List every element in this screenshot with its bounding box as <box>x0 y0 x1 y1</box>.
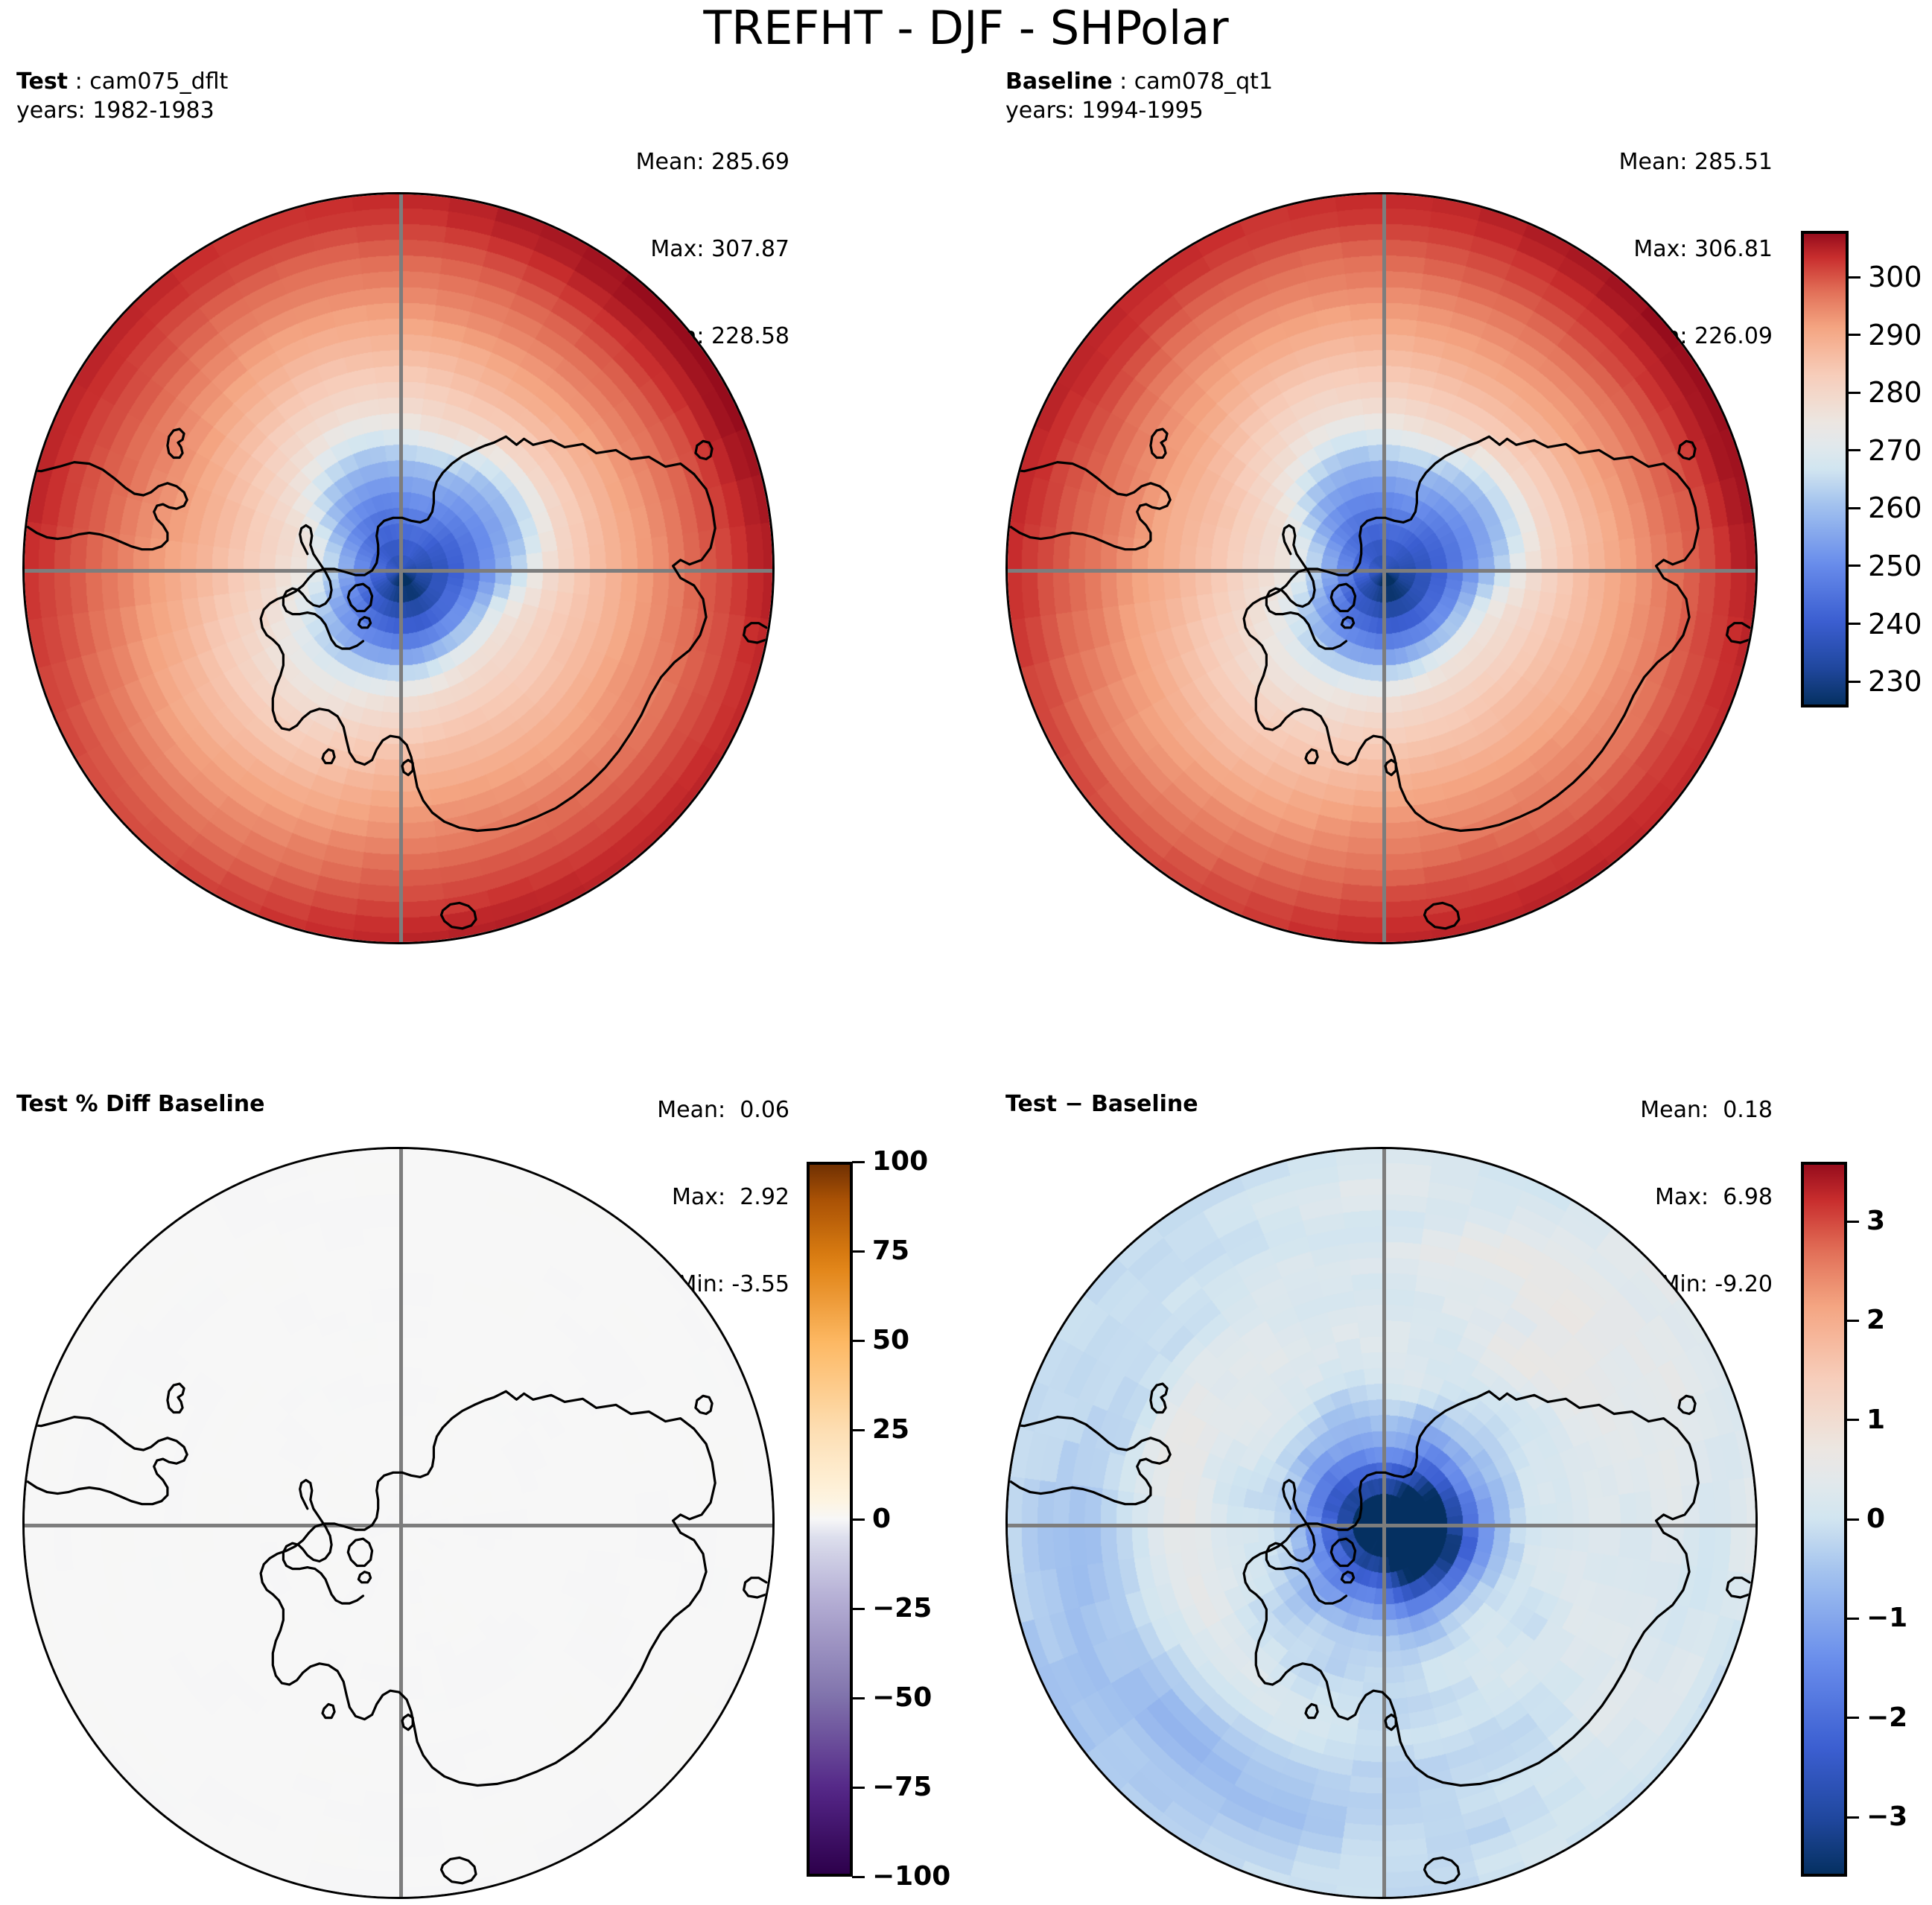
figure-canvas: TREFHT - DJF - SHPolar Test : cam075_dfl… <box>0 0 1932 1905</box>
colorbar-tick <box>1848 276 1860 279</box>
diff-field-raster <box>1005 1147 1758 1899</box>
colorbar-tick-label: 3 <box>1866 1208 1885 1235</box>
test-polar-map <box>22 192 775 944</box>
difference-colorbar-gradient <box>1801 1162 1847 1877</box>
colorbar-tick <box>1848 392 1860 394</box>
colorbar-tick-label: 50 <box>872 1327 909 1354</box>
colorbar-tick-label: 25 <box>872 1416 909 1443</box>
test-years: years: 1982-1983 <box>16 96 228 125</box>
page-title: TREFHT - DJF - SHPolar <box>0 3 1932 54</box>
colorbar-tick <box>852 1518 865 1521</box>
colorbar-tick <box>1848 449 1860 451</box>
diff-mean: Mean: 0.18 <box>1445 1095 1773 1125</box>
diff-polar-map <box>1005 1147 1758 1899</box>
colorbar-tick <box>1848 564 1860 567</box>
colorbar-tick <box>1846 1419 1859 1421</box>
colorbar-tick-label: 300 <box>1868 263 1922 291</box>
colorbar-tick <box>1846 1717 1859 1719</box>
diff-panel-header: Test − Baseline <box>1005 1090 1198 1119</box>
colorbar-tick-label: 1 <box>1866 1407 1885 1434</box>
temperature-colorbar-gradient <box>1801 231 1849 707</box>
colorbar-tick-label: −1 <box>1866 1605 1907 1632</box>
colorbar-tick <box>1846 1320 1859 1322</box>
colorbar-tick <box>852 1608 865 1610</box>
colorbar-tick-label: −75 <box>872 1774 932 1801</box>
pctdiff-role-label: Test % Diff Baseline <box>16 1091 265 1117</box>
colorbar-tick-label: 75 <box>872 1238 909 1265</box>
colorbar-tick <box>1848 507 1860 509</box>
colorbar-tick-label: 260 <box>1868 494 1922 522</box>
colorbar-tick <box>852 1787 865 1789</box>
colorbar-tick <box>852 1876 865 1878</box>
test-role-label: Test <box>16 69 68 95</box>
baseline-mean: Mean: 285.51 <box>1445 147 1773 176</box>
pctdiff-mean: Mean: 0.06 <box>462 1095 789 1125</box>
colorbar-tick-label: 250 <box>1868 552 1922 580</box>
colorbar-tick-label: 240 <box>1868 610 1922 638</box>
percent-diff-colorbar[interactable]: 1007550250−25−50−75−100 <box>807 1162 956 1877</box>
colorbar-tick <box>852 1697 865 1699</box>
difference-colorbar[interactable]: 3210−1−2−3 <box>1801 1162 1932 1877</box>
colorbar-tick <box>1848 334 1860 336</box>
colorbar-tick-label: −100 <box>872 1863 950 1890</box>
colorbar-tick <box>1846 1816 1859 1819</box>
colorbar-tick-label: −50 <box>872 1685 932 1711</box>
test-mean: Mean: 285.69 <box>462 147 789 176</box>
colorbar-tick <box>1846 1618 1859 1620</box>
colorbar-tick <box>852 1340 865 1342</box>
colorbar-tick-label: 230 <box>1868 667 1922 696</box>
test-case-line: Test : cam075_dflt <box>16 67 228 96</box>
pctdiff-field-raster <box>22 1147 775 1899</box>
test-case-name: cam075_dflt <box>89 69 228 95</box>
colorbar-tick <box>1848 681 1860 683</box>
colorbar-tick-label: 270 <box>1868 436 1922 465</box>
test-panel-header: Test : cam075_dflt years: 1982-1983 <box>16 67 228 125</box>
baseline-field-raster <box>1005 192 1758 944</box>
baseline-gridline-parallel <box>1008 569 1758 573</box>
colorbar-tick-label: 0 <box>872 1506 891 1533</box>
baseline-years: years: 1994-1995 <box>1005 96 1273 125</box>
baseline-role-label: Baseline <box>1005 69 1113 95</box>
baseline-polar-map <box>1005 192 1758 944</box>
colorbar-tick <box>852 1161 865 1163</box>
colorbar-tick <box>852 1429 865 1431</box>
percent-diff-colorbar-gradient <box>807 1162 853 1877</box>
colorbar-tick-label: 290 <box>1868 321 1922 349</box>
colorbar-tick-label: −3 <box>1866 1804 1907 1831</box>
baseline-case-line: Baseline : cam078_qt1 <box>1005 67 1273 96</box>
baseline-case-name: cam078_qt1 <box>1134 69 1273 95</box>
colorbar-tick <box>1846 1518 1859 1521</box>
colorbar-tick <box>1846 1221 1859 1223</box>
test-field-raster <box>22 192 775 944</box>
colorbar-tick-label: −2 <box>1866 1705 1907 1731</box>
test-separator: : <box>68 69 89 95</box>
diff-gridline-parallel <box>1008 1524 1758 1527</box>
pctdiff-polar-map <box>22 1147 775 1899</box>
colorbar-tick <box>852 1250 865 1253</box>
diff-role-label: Test − Baseline <box>1005 1091 1198 1117</box>
colorbar-tick-label: 0 <box>1866 1506 1885 1533</box>
temperature-colorbar[interactable]: 300290280270260250240230 <box>1801 231 1932 707</box>
baseline-panel-header: Baseline : cam078_qt1 years: 1994-1995 <box>1005 67 1273 125</box>
colorbar-tick <box>1848 623 1860 625</box>
pctdiff-panel-header: Test % Diff Baseline <box>16 1090 265 1119</box>
baseline-separator: : <box>1113 69 1134 95</box>
colorbar-tick-label: 2 <box>1866 1307 1885 1334</box>
pctdiff-gridline-parallel <box>25 1524 775 1527</box>
test-gridline-parallel <box>25 569 775 573</box>
colorbar-tick-label: −25 <box>872 1595 932 1622</box>
colorbar-tick-label: 280 <box>1868 378 1922 407</box>
colorbar-tick-label: 100 <box>872 1148 928 1175</box>
